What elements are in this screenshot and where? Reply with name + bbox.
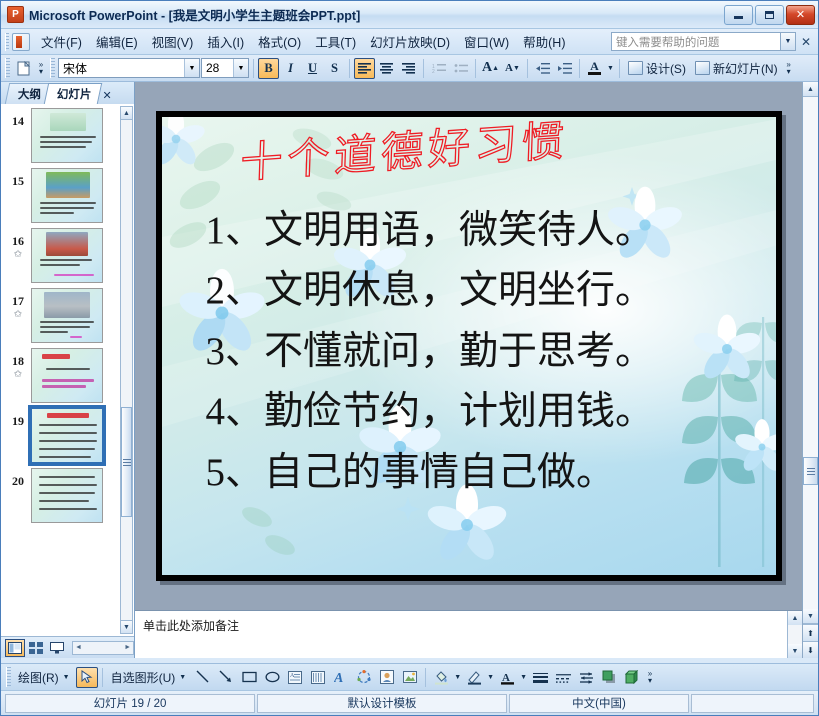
normal-view-button[interactable] bbox=[5, 639, 25, 657]
scrollbar-grip-icon bbox=[807, 468, 815, 475]
slide-title-text[interactable]: 十个道德好习惯 bbox=[239, 119, 569, 186]
insert-clip-art-button[interactable] bbox=[376, 667, 398, 688]
menu-grip-handle[interactable] bbox=[5, 33, 9, 51]
menu-item-insert[interactable]: 插入(I) bbox=[200, 29, 251, 54]
drawing-separator-1 bbox=[102, 668, 103, 687]
panel-tabs: 大纲 幻灯片 ✕ bbox=[1, 82, 134, 104]
thumbnail-scroll-down-button[interactable]: ▼ bbox=[121, 620, 132, 633]
new-file-icon bbox=[17, 61, 31, 76]
insert-diagram-button[interactable] bbox=[353, 667, 375, 688]
help-search-area: 键入需要帮助的问题 ▼ ✕ bbox=[611, 32, 818, 51]
align-center-button[interactable] bbox=[376, 58, 397, 79]
arrow-style-icon bbox=[579, 671, 594, 684]
rectangle-tool-button[interactable] bbox=[238, 667, 260, 688]
autoshapes-menu-button[interactable]: 自选图形(U) ▼ bbox=[107, 667, 192, 688]
drawing-toolbar-overflow[interactable]: »▾ bbox=[644, 666, 656, 689]
list-item[interactable]: 15 bbox=[1, 168, 134, 223]
design-label: 设计(S) bbox=[646, 60, 686, 77]
align-left-button[interactable] bbox=[354, 58, 375, 79]
scroll-up-button[interactable]: ▲ bbox=[803, 82, 818, 97]
view-buttons-bar: ◄ ► bbox=[1, 636, 134, 658]
formatting-toolbar: »▾ 宋体 ▼ 28 ▼ B I U S bbox=[1, 55, 818, 82]
fill-color-icon bbox=[434, 670, 449, 685]
font-color-icon: A bbox=[500, 670, 515, 685]
status-extra bbox=[691, 694, 814, 713]
underline-icon: U bbox=[308, 61, 317, 76]
bulleted-list-icon bbox=[454, 63, 468, 74]
increase-font-icon: A bbox=[482, 60, 492, 76]
slide-thumbnail[interactable] bbox=[31, 108, 103, 163]
thumbnail-scrollbar[interactable]: ▲ ▼ bbox=[120, 106, 133, 634]
scrollbar-track[interactable] bbox=[803, 97, 818, 609]
font-color-draw-button[interactable]: A bbox=[496, 667, 518, 688]
slide-line-2: 2、文明休息，文明坐行。 bbox=[206, 261, 762, 321]
thumbnail-horizontal-scrollbar[interactable]: ◄ ► bbox=[72, 641, 134, 655]
line-style-button[interactable] bbox=[529, 667, 551, 688]
slide-number: 20 bbox=[5, 474, 31, 489]
slide-thumbnail[interactable] bbox=[31, 468, 103, 523]
line-icon bbox=[196, 670, 210, 684]
list-item[interactable]: 19 bbox=[1, 408, 134, 463]
slide-pane: 十个道德好习惯 1、文明用语，微笑待人。 2、文明休息，文明坐行。 3、不懂就问… bbox=[135, 82, 802, 658]
toolbar-overflow-2[interactable]: »▾ bbox=[783, 57, 795, 80]
scrollbar-thumb[interactable] bbox=[803, 457, 818, 485]
toolbar-grip-2[interactable] bbox=[50, 58, 55, 78]
close-icon: ✕ bbox=[796, 8, 805, 21]
list-item[interactable]: 20 bbox=[1, 468, 134, 523]
menu-item-help[interactable]: 帮助(H) bbox=[516, 29, 572, 54]
title-bar: P Microsoft PowerPoint - [我是文明小学生主题班会PPT… bbox=[1, 1, 818, 29]
powerpoint-logo-icon: P bbox=[7, 6, 24, 23]
drawing-toolbar-grip[interactable] bbox=[6, 667, 11, 687]
slide-thumbnail[interactable] bbox=[31, 348, 103, 403]
close-button[interactable]: ✕ bbox=[786, 5, 815, 25]
next-slide-button[interactable]: ⬇ bbox=[803, 641, 818, 658]
text-shadow-button[interactable]: S bbox=[324, 58, 345, 79]
font-color-draw-dropdown-icon[interactable]: ▼ bbox=[519, 674, 528, 681]
dash-style-button[interactable] bbox=[552, 667, 574, 688]
slide-thumbnail-selected[interactable] bbox=[31, 408, 103, 463]
font-color-dropdown-icon[interactable]: ▼ bbox=[606, 65, 615, 72]
font-size-combo[interactable]: 28 ▼ bbox=[201, 58, 249, 78]
slide-show-view-button[interactable] bbox=[47, 639, 67, 657]
menu-item-file[interactable]: 文件(F) bbox=[34, 29, 89, 54]
notes-pane[interactable]: 单击此处添加备注 ▲ ▼ bbox=[135, 610, 802, 658]
help-dropdown-icon[interactable]: ▼ bbox=[781, 32, 796, 51]
toolbar-separator-4 bbox=[475, 59, 476, 78]
menu-item-format[interactable]: 格式(O) bbox=[251, 29, 308, 54]
document-icon bbox=[12, 33, 30, 51]
new-slide-button[interactable]: 新幻灯片(N) bbox=[691, 58, 782, 79]
oval-tool-button[interactable] bbox=[261, 667, 283, 688]
hscroll-right-icon[interactable]: ► bbox=[124, 644, 131, 651]
list-item[interactable]: 16 ✩ bbox=[1, 228, 134, 283]
scrollbar-grip-icon bbox=[123, 459, 131, 466]
panel-close-icon[interactable]: ✕ bbox=[103, 89, 112, 104]
slide-thumbnail[interactable] bbox=[31, 228, 103, 283]
drawing-separator-2 bbox=[425, 668, 426, 687]
oval-icon bbox=[265, 671, 280, 683]
slide-thumbnail-list[interactable]: 14 15 bbox=[1, 104, 134, 636]
fill-color-dropdown-icon[interactable]: ▼ bbox=[453, 674, 462, 681]
vertical-text-box-button[interactable] bbox=[307, 667, 329, 688]
toolbar-separator-5 bbox=[527, 59, 528, 78]
menu-bar: 文件(F) 编辑(E) 视图(V) 插入(I) 格式(O) 工具(T) 幻灯片放… bbox=[1, 29, 818, 55]
svg-text:2: 2 bbox=[432, 69, 435, 74]
slide-line-1: 1、文明用语，微笑待人。 bbox=[206, 201, 762, 261]
notes-scroll-up-button[interactable]: ▲ bbox=[788, 611, 802, 625]
restore-button[interactable] bbox=[755, 5, 784, 25]
align-right-icon bbox=[402, 63, 415, 74]
autoshapes-label: 自选图形(U) bbox=[111, 669, 176, 686]
slide-line-3: 3、不懂就问，勤于思考。 bbox=[206, 322, 762, 382]
slide-number: 18 bbox=[5, 354, 31, 369]
insert-picture-icon bbox=[403, 670, 417, 684]
thumb-meta: 15 bbox=[5, 168, 31, 189]
decrease-indent-button[interactable] bbox=[532, 58, 553, 79]
shadow-icon: S bbox=[331, 61, 338, 76]
arrow-icon bbox=[219, 670, 233, 684]
tab-slides[interactable]: 幻灯片 bbox=[44, 83, 102, 104]
line-tool-button[interactable] bbox=[192, 667, 214, 688]
notes-scroll-down-button[interactable]: ▼ bbox=[788, 644, 802, 658]
bold-icon: B bbox=[264, 61, 272, 76]
help-close-icon[interactable]: ✕ bbox=[799, 35, 813, 49]
insert-wordart-button[interactable]: A bbox=[330, 667, 352, 688]
new-presentation-button[interactable] bbox=[13, 58, 34, 79]
svg-text:A: A bbox=[334, 671, 343, 684]
select-objects-button[interactable] bbox=[76, 667, 98, 688]
slide-line-5: 5、自己的事情自己做。 bbox=[206, 443, 762, 503]
normal-view-icon bbox=[8, 642, 22, 654]
toolbar-grip-1[interactable] bbox=[5, 58, 10, 78]
powerpoint-window: P Microsoft PowerPoint - [我是文明小学生主题班会PPT… bbox=[0, 0, 819, 716]
decrease-font-size-button[interactable]: A▼ bbox=[502, 58, 523, 79]
increase-font-size-button[interactable]: A▲ bbox=[480, 58, 501, 79]
autoshapes-dropdown-icon[interactable]: ▼ bbox=[178, 674, 187, 681]
slide-sorter-view-button[interactable] bbox=[26, 639, 46, 657]
work-area: 大纲 幻灯片 ✕ 14 bbox=[1, 82, 818, 658]
rectangle-icon bbox=[242, 671, 257, 683]
slide-number: 14 bbox=[5, 114, 31, 129]
animation-star-icon: ✩ bbox=[5, 369, 31, 380]
design-button[interactable]: 设计(S) bbox=[624, 58, 690, 79]
tab-outline-label: 大纲 bbox=[18, 86, 41, 102]
font-color-icon: A bbox=[590, 61, 599, 72]
bold-button[interactable]: B bbox=[258, 58, 279, 79]
previous-slide-button[interactable]: ⬆ bbox=[803, 624, 818, 641]
italic-icon: I bbox=[288, 61, 293, 76]
draw-menu-button[interactable]: 绘图(R) ▼ bbox=[14, 667, 75, 688]
bullets-button[interactable] bbox=[450, 58, 471, 79]
thumb-meta: 19 bbox=[5, 408, 31, 429]
menu-item-slideshow[interactable]: 幻灯片放映(D) bbox=[363, 29, 457, 54]
italic-button[interactable]: I bbox=[280, 58, 301, 79]
slide-body-text[interactable]: 1、文明用语，微笑待人。 2、文明休息，文明坐行。 3、不懂就问，勤于思考。 4… bbox=[206, 201, 762, 503]
thumb-meta: 14 bbox=[5, 108, 31, 129]
menu-item-window[interactable]: 窗口(W) bbox=[457, 29, 516, 54]
clip-art-icon bbox=[380, 670, 394, 684]
slides-outline-panel: 大纲 幻灯片 ✕ 14 bbox=[1, 82, 135, 658]
shadow-style-icon bbox=[602, 670, 617, 684]
3d-style-icon bbox=[625, 670, 640, 684]
animation-star-icon: ✩ bbox=[5, 309, 31, 320]
select-arrow-icon bbox=[81, 670, 93, 684]
line-style-icon bbox=[533, 671, 548, 684]
window-title: Microsoft PowerPoint - [我是文明小学生主题班会PPT.p… bbox=[29, 5, 360, 24]
slide-pane-scrollbar[interactable]: ▲ ▼ ⬆ ⬇ bbox=[802, 82, 818, 658]
3d-style-button[interactable] bbox=[621, 667, 643, 688]
numbered-list-icon: 1 2 bbox=[432, 63, 446, 74]
align-left-icon bbox=[358, 63, 371, 74]
new-slide-icon bbox=[695, 61, 710, 75]
notes-placeholder[interactable]: 单击此处添加备注 bbox=[135, 611, 247, 658]
thumb-meta: 20 bbox=[5, 468, 31, 489]
increase-indent-button[interactable] bbox=[554, 58, 575, 79]
new-slide-label: 新幻灯片(N) bbox=[713, 60, 778, 77]
slide-frame: 十个道德好习惯 1、文明用语，微笑待人。 2、文明休息，文明坐行。 3、不懂就问… bbox=[156, 111, 782, 581]
insert-picture-button[interactable] bbox=[399, 667, 421, 688]
list-item[interactable]: 18 ✩ bbox=[1, 348, 134, 403]
draw-menu-label: 绘图(R) bbox=[18, 669, 59, 686]
vertical-text-box-icon bbox=[311, 671, 325, 684]
scroll-down-button[interactable]: ▼ bbox=[803, 609, 818, 624]
line-color-icon bbox=[467, 670, 482, 685]
slide-sorter-icon bbox=[29, 642, 43, 654]
underline-button[interactable]: U bbox=[302, 58, 323, 79]
toolbar-separator-7 bbox=[619, 59, 620, 78]
drawing-toolbar: 绘图(R) ▼ 自选图形(U) ▼ bbox=[1, 663, 818, 690]
status-bar: 幻灯片 19 / 20 默认设计模板 中文(中国) bbox=[1, 690, 818, 715]
help-search-input[interactable]: 键入需要帮助的问题 bbox=[611, 32, 781, 51]
toolbar-separator-3 bbox=[423, 59, 424, 78]
draw-menu-dropdown-icon[interactable]: ▼ bbox=[62, 674, 71, 681]
diagram-icon bbox=[357, 670, 371, 684]
list-item[interactable]: 14 bbox=[1, 108, 134, 163]
text-box-icon: A bbox=[288, 671, 302, 684]
slide-number: 19 bbox=[5, 414, 31, 429]
text-box-button[interactable]: A bbox=[284, 667, 306, 688]
slide-number: 17 bbox=[5, 294, 31, 309]
font-name-combo[interactable]: 宋体 ▼ bbox=[58, 58, 200, 78]
toolbar-separator-1 bbox=[253, 59, 254, 78]
animation-star-icon: ✩ bbox=[5, 249, 31, 260]
fill-color-button[interactable] bbox=[430, 667, 452, 688]
wordart-icon: A bbox=[334, 670, 349, 684]
line-color-button[interactable] bbox=[463, 667, 485, 688]
thumbnail-scroll-up-button[interactable]: ▲ bbox=[121, 107, 132, 120]
design-icon bbox=[628, 61, 643, 75]
line-color-dropdown-icon[interactable]: ▼ bbox=[486, 674, 495, 681]
menu-item-tools[interactable]: 工具(T) bbox=[308, 29, 363, 54]
minimize-icon bbox=[734, 16, 743, 19]
align-right-button[interactable] bbox=[398, 58, 419, 79]
toolbar-separator-6 bbox=[579, 59, 580, 78]
menu-item-edit[interactable]: 编辑(E) bbox=[89, 29, 145, 54]
menu-item-view[interactable]: 视图(V) bbox=[145, 29, 201, 54]
slide-thumbnail[interactable] bbox=[31, 288, 103, 343]
font-size-value: 28 bbox=[206, 61, 219, 75]
arrow-style-button[interactable] bbox=[575, 667, 597, 688]
status-design-template[interactable]: 默认设计模板 bbox=[257, 694, 507, 713]
dash-style-icon bbox=[556, 671, 571, 684]
toolbar-overflow-1[interactable]: »▾ bbox=[35, 57, 47, 80]
thumbnail-scrollbar-thumb[interactable] bbox=[121, 407, 132, 517]
slide-line-4: 4、勤俭节约，计划用钱。 bbox=[206, 382, 762, 442]
restore-icon bbox=[765, 11, 774, 19]
window-controls: ✕ bbox=[724, 5, 815, 25]
decrease-font-icon: A bbox=[505, 62, 513, 74]
tab-slides-label: 幻灯片 bbox=[57, 86, 92, 102]
toolbar-separator-2 bbox=[349, 59, 350, 78]
align-center-icon bbox=[380, 63, 393, 74]
current-slide-canvas[interactable]: 十个道德好习惯 1、文明用语，微笑待人。 2、文明休息，文明坐行。 3、不懂就问… bbox=[156, 111, 782, 581]
thumb-meta: 18 ✩ bbox=[5, 348, 31, 380]
slide-thumbnail[interactable] bbox=[31, 168, 103, 223]
font-color-button[interactable]: A bbox=[584, 58, 605, 79]
status-slide-counter: 幻灯片 19 / 20 bbox=[5, 694, 255, 713]
status-language[interactable]: 中文(中国) bbox=[509, 694, 689, 713]
minimize-button[interactable] bbox=[724, 5, 753, 25]
numbering-button[interactable]: 1 2 bbox=[428, 58, 449, 79]
hscroll-left-icon[interactable]: ◄ bbox=[75, 644, 82, 651]
thumb-meta: 16 ✩ bbox=[5, 228, 31, 260]
font-color-swatch bbox=[588, 72, 601, 75]
increase-indent-icon bbox=[558, 63, 572, 74]
arrow-tool-button[interactable] bbox=[215, 667, 237, 688]
decrease-indent-icon bbox=[536, 63, 550, 74]
slide-number: 16 bbox=[5, 234, 31, 249]
notes-scrollbar[interactable]: ▲ ▼ bbox=[787, 611, 802, 658]
font-name-dropdown-icon[interactable]: ▼ bbox=[184, 59, 199, 77]
font-size-dropdown-icon[interactable]: ▼ bbox=[233, 59, 248, 77]
slide-show-icon bbox=[50, 642, 64, 654]
shadow-style-button[interactable] bbox=[598, 667, 620, 688]
slide-number: 15 bbox=[5, 174, 31, 189]
slide-editing-area[interactable]: 十个道德好习惯 1、文明用语，微笑待人。 2、文明休息，文明坐行。 3、不懂就问… bbox=[135, 82, 802, 610]
svg-text:A: A bbox=[290, 673, 295, 679]
list-item[interactable]: 17 ✩ bbox=[1, 288, 134, 343]
thumb-meta: 17 ✩ bbox=[5, 288, 31, 320]
font-name-value: 宋体 bbox=[63, 60, 87, 77]
